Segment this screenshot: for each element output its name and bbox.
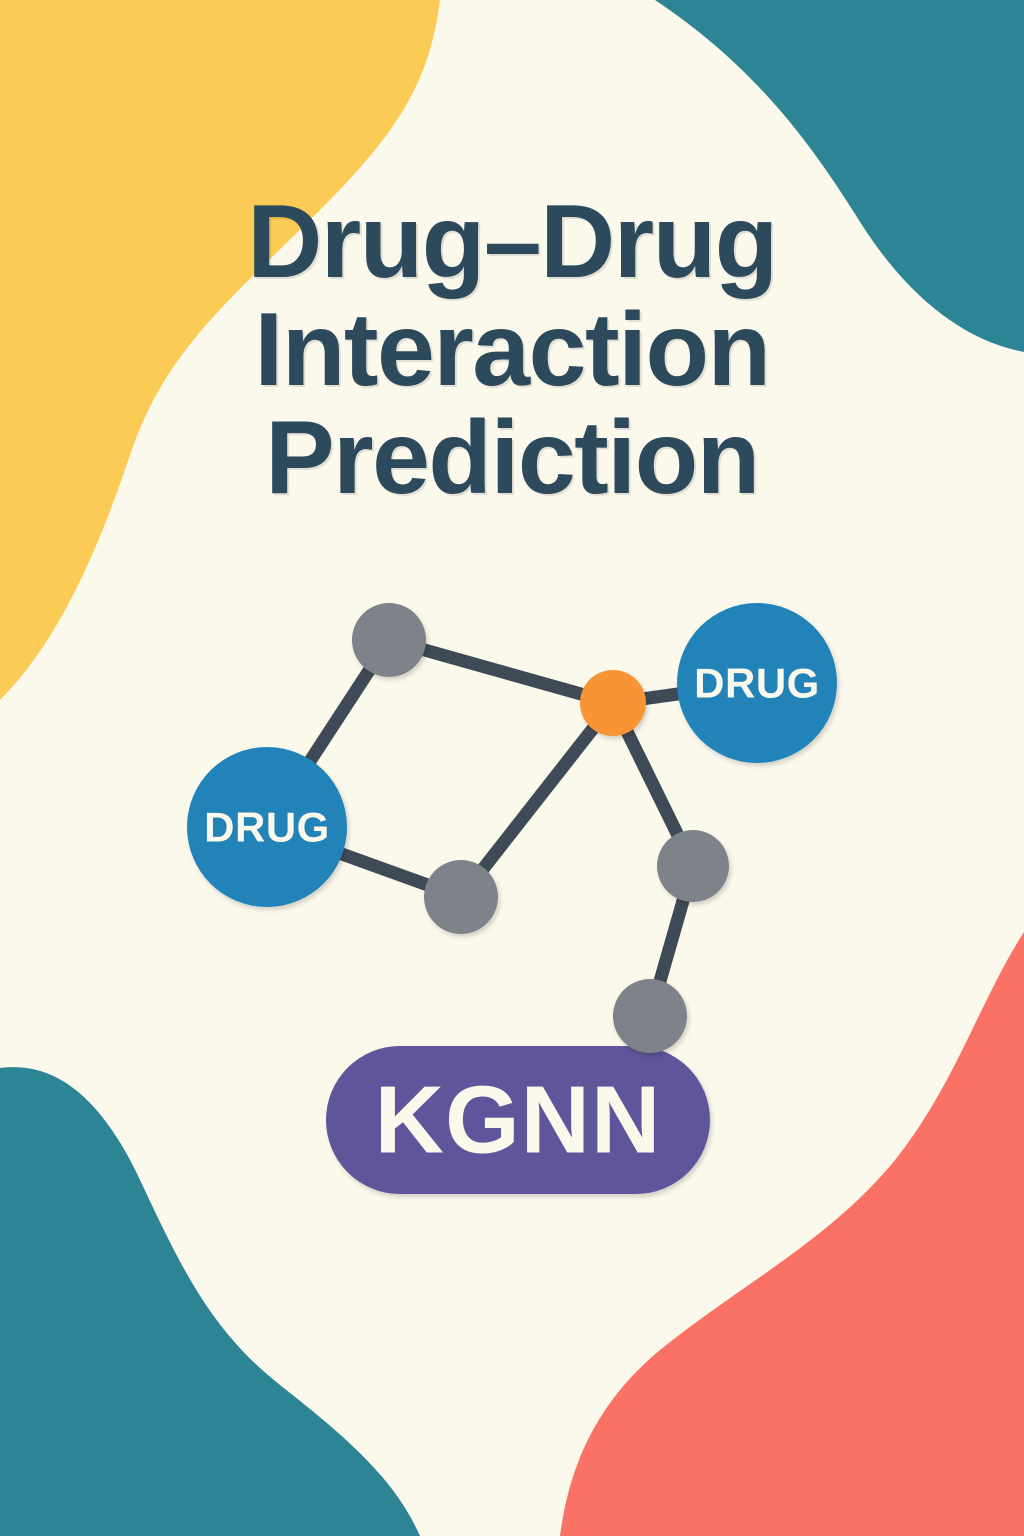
node-circle: [613, 979, 687, 1053]
kgnn-badge-label: KGNN: [375, 1067, 662, 1174]
node-circle: [580, 670, 646, 736]
poster-canvas: Drug–Drug Interaction Prediction KGNN DR…: [0, 0, 1024, 1536]
kgnn-badge: KGNN: [326, 1046, 710, 1194]
graph-node-entity-bottom: [613, 979, 687, 1053]
node-circle: [657, 830, 729, 902]
graph-node-drug-right: DRUG: [677, 603, 837, 763]
graph-node-entity-mid: [424, 860, 498, 934]
graph-node-hub: [580, 670, 646, 736]
node-circle: [352, 603, 426, 677]
graph-node-entity-right: [657, 830, 729, 902]
graph-node-drug-left: DRUG: [187, 747, 347, 907]
node-label: DRUG: [694, 660, 820, 707]
knowledge-graph-illustration: KGNN DRUGDRUG: [0, 0, 1024, 1536]
graph-node-entity-top: [352, 603, 426, 677]
node-circle: [424, 860, 498, 934]
node-label: DRUG: [204, 804, 330, 851]
